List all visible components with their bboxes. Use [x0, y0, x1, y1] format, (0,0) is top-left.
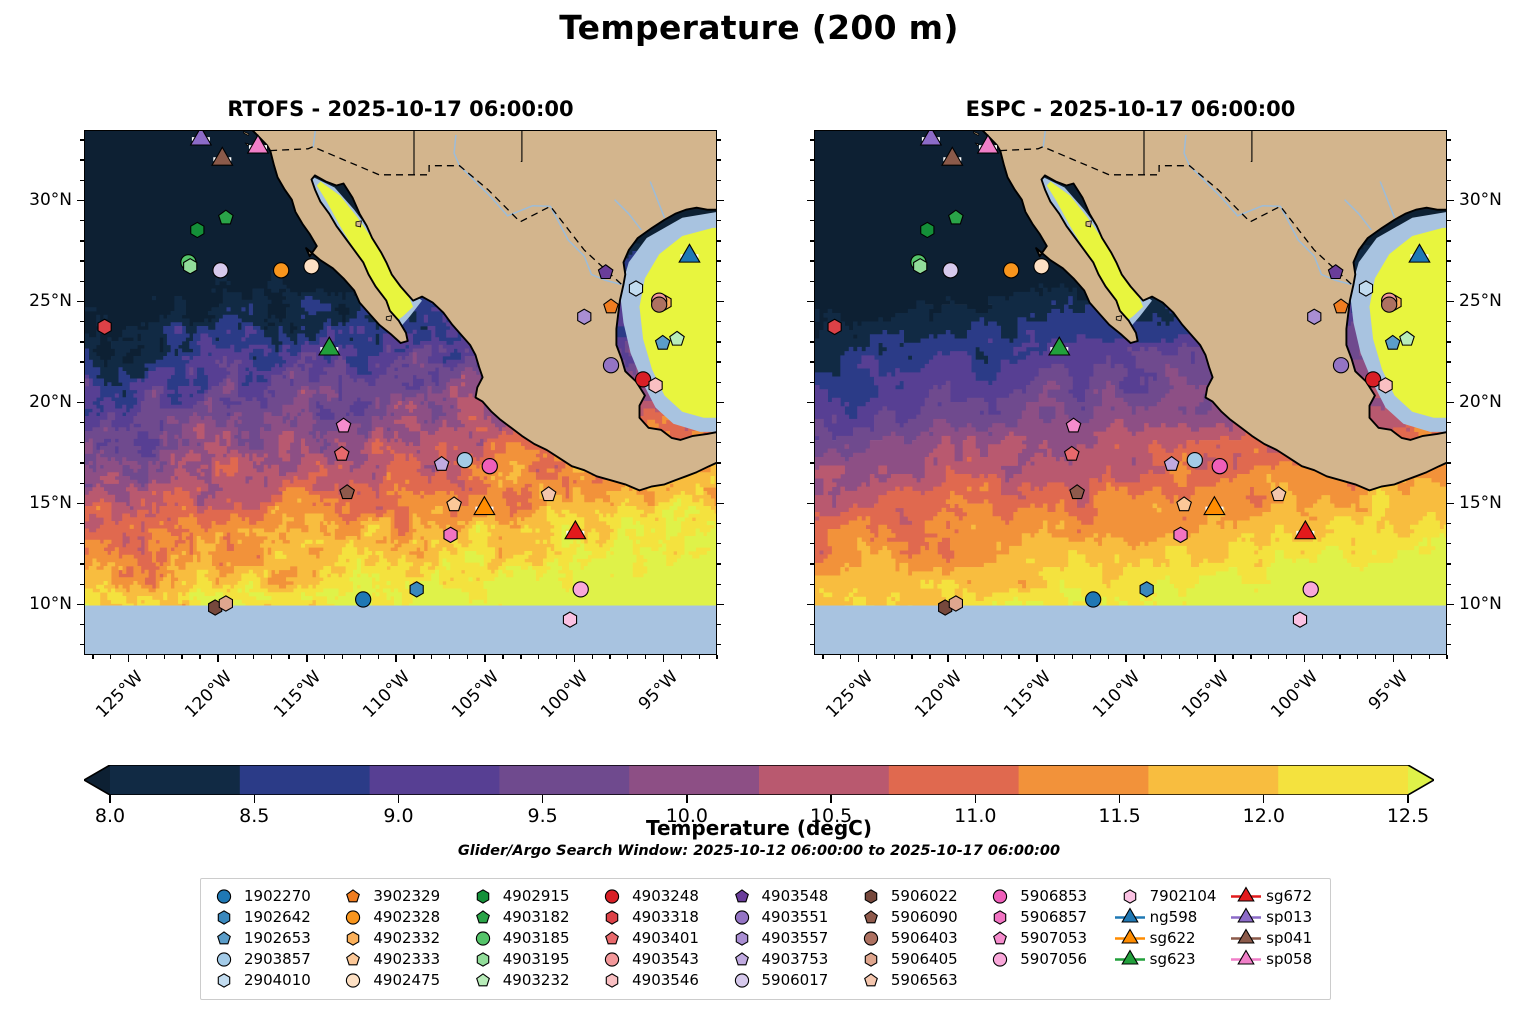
legend-item-sg623[interactable]: sg623: [1113, 949, 1230, 970]
colorbar-band: [629, 765, 759, 795]
lon-tick-major: [1125, 655, 1127, 662]
platform-marker-1902270: [1086, 592, 1101, 607]
lat-tick-minor: [1447, 220, 1451, 221]
legend-marker-4903318: [595, 907, 629, 928]
legend-marker-4903551: [725, 907, 759, 928]
legend-item-5906857[interactable]: 5906857: [983, 907, 1112, 928]
lat-tick-minor: [810, 281, 814, 282]
legend-label: 5906017: [759, 970, 829, 991]
legend-item-4903248[interactable]: 4903248: [595, 886, 724, 907]
lon-tick-label: 120°W: [906, 667, 965, 726]
lat-tick-minor: [717, 563, 721, 564]
lon-tick-label: 120°W: [176, 667, 235, 726]
lon-tick-minor: [716, 655, 717, 659]
lon-tick-minor: [876, 655, 877, 659]
legend-item-4902333[interactable]: 4902333: [336, 949, 465, 970]
lat-tick-minor: [1447, 624, 1451, 625]
colorbar-band: [370, 765, 500, 795]
legend-item-4903318[interactable]: 4903318: [595, 907, 724, 928]
legend-marker-2904010: [207, 970, 241, 991]
platform-marker-1902642: [410, 582, 423, 597]
lon-tick-minor: [413, 655, 414, 659]
legend-label: sp058: [1263, 949, 1312, 970]
lon-tick-label: 100°W: [533, 667, 592, 726]
lat-tick-minor: [717, 321, 721, 322]
lon-tick-minor: [1232, 655, 1233, 659]
legend-column-8: sg672sp013sp041sp058: [1229, 886, 1324, 991]
legend-label: ng598: [1147, 907, 1198, 928]
legend-item-5906403[interactable]: 5906403: [854, 928, 983, 949]
platform-marker-1902642: [1140, 582, 1153, 597]
map-espc[interactable]: [814, 130, 1447, 655]
platform-marker-2904010: [629, 281, 642, 296]
lat-tick-label: 15°N: [1459, 493, 1518, 513]
platform-marker-4903546: [649, 378, 662, 393]
lat-tick-label: 10°N: [8, 594, 72, 614]
legend-marker-4903548: [725, 886, 759, 907]
legend-marker-4903248: [595, 886, 629, 907]
legend-item-ng598[interactable]: ng598: [1113, 907, 1230, 928]
lon-tick-label: 105°W: [444, 667, 503, 726]
lat-tick-major: [807, 301, 814, 303]
lat-tick-major: [77, 503, 84, 505]
lon-tick-label: 110°W: [1085, 667, 1144, 726]
lat-tick-major: [807, 604, 814, 606]
lon-tick-major: [574, 655, 576, 662]
lon-tick-minor: [645, 655, 646, 659]
map-rtofs[interactable]: [84, 130, 717, 655]
lon-tick-label: 115°W: [996, 667, 1055, 726]
legend-item-5907053[interactable]: 5907053: [983, 928, 1112, 949]
lon-tick-minor: [288, 655, 289, 659]
lat-tick-minor: [80, 159, 84, 160]
colorbar: 8.08.59.09.510.010.511.011.512.012.5: [84, 765, 1434, 795]
platform-marker-4903195: [184, 259, 197, 274]
legend-item-4903548[interactable]: 4903548: [725, 886, 854, 907]
platform-marker-5906853: [482, 459, 497, 474]
lon-tick-major: [484, 655, 486, 662]
lon-tick-major: [947, 655, 949, 662]
lat-tick-minor: [717, 260, 721, 261]
lat-tick-minor: [810, 139, 814, 140]
lat-tick-minor: [1447, 180, 1451, 181]
legend-marker-4902333: [336, 949, 370, 970]
legend-item-5906563[interactable]: 5906563: [854, 970, 983, 991]
lon-tick-minor: [840, 655, 841, 659]
colorbar-tick: [1119, 795, 1120, 803]
legend-spacer: [983, 970, 1112, 991]
legend-label: 4903753: [759, 949, 829, 970]
lon-tick-minor: [1322, 655, 1323, 659]
legend-item-sp013[interactable]: sp013: [1229, 907, 1324, 928]
legend-item-4903753[interactable]: 4903753: [725, 949, 854, 970]
lon-tick-minor: [911, 655, 912, 659]
lat-tick-minor: [1447, 139, 1451, 140]
legend-marker-5906563: [854, 970, 888, 991]
legend-marker-3902329: [336, 886, 370, 907]
legend-label: sg672: [1263, 886, 1312, 907]
platform-marker-4903318: [98, 319, 111, 334]
lat-tick-label: 25°N: [8, 291, 72, 311]
colorbar-band: [1148, 765, 1278, 795]
lat-tick-minor: [717, 624, 721, 625]
lat-tick-minor: [80, 483, 84, 484]
lat-tick-minor: [80, 523, 84, 524]
lon-tick-minor: [1143, 655, 1144, 659]
lat-tick-minor: [1447, 584, 1451, 585]
lon-tick-minor: [1268, 655, 1269, 659]
platform-marker-4903248: [1366, 372, 1381, 387]
lat-tick-major: [1447, 503, 1454, 505]
lat-tick-minor: [80, 281, 84, 282]
lon-tick-minor: [1357, 655, 1358, 659]
no-data-region: [85, 606, 717, 655]
legend-column-0: 19022701902642190265329038572904010: [207, 886, 336, 991]
lon-tick-minor: [467, 655, 468, 659]
lat-tick-minor: [1447, 563, 1451, 564]
legend-label: 4902915: [500, 886, 570, 907]
lat-tick-minor: [717, 644, 721, 645]
legend-item-1902653[interactable]: 1902653: [207, 928, 336, 949]
legend-item-5906022[interactable]: 5906022: [854, 886, 983, 907]
lon-tick-minor: [360, 655, 361, 659]
lat-tick-minor: [810, 382, 814, 383]
legend-label: 4903318: [629, 907, 699, 928]
lat-tick-major: [717, 604, 724, 606]
lat-tick-minor: [717, 159, 721, 160]
island: [1116, 316, 1121, 321]
colorbar-band: [240, 765, 370, 795]
platform-marker-5906857: [1174, 527, 1187, 542]
legend-item-sp058[interactable]: sp058: [1229, 949, 1324, 970]
legend-item-4903543[interactable]: 4903543: [595, 949, 724, 970]
lat-tick-minor: [717, 483, 721, 484]
lat-tick-minor: [717, 361, 721, 362]
legend-marker-1902642: [207, 907, 241, 928]
legend-marker-4902475: [336, 970, 370, 991]
legend-label: 4903551: [759, 907, 829, 928]
lat-tick-minor: [1447, 281, 1451, 282]
legend-label: 4903248: [629, 886, 699, 907]
lon-tick-minor: [1072, 655, 1073, 659]
platform-marker-4903248: [636, 372, 651, 387]
lon-tick-minor: [983, 655, 984, 659]
lon-tick-minor: [181, 655, 182, 659]
legend-marker-5906022: [854, 886, 888, 907]
legend-item-4902475[interactable]: 4902475: [336, 970, 465, 991]
legend-column-4: 49035484903551490355749037535906017: [725, 886, 854, 991]
lat-tick-minor: [80, 442, 84, 443]
lon-tick-minor: [1429, 655, 1430, 659]
lat-tick-minor: [1447, 462, 1451, 463]
lat-tick-minor: [810, 563, 814, 564]
map-canvas-rtofs: [85, 131, 717, 655]
lat-tick-label: 30°N: [8, 190, 72, 210]
legend-label: 5906853: [1017, 886, 1087, 907]
lon-tick-label: 115°W: [266, 667, 325, 726]
lat-tick-minor: [810, 644, 814, 645]
lat-tick-major: [77, 402, 84, 404]
lat-tick-minor: [810, 240, 814, 241]
legend-item-5907056[interactable]: 5907056: [983, 949, 1112, 970]
legend-label: 3902329: [370, 886, 440, 907]
lat-tick-major: [807, 402, 814, 404]
lon-tick-major: [217, 655, 219, 662]
platform-marker-5906403: [652, 297, 667, 312]
platform-marker-5906017: [213, 263, 228, 278]
legend-label: 4902332: [370, 928, 440, 949]
lat-tick-minor: [1447, 260, 1451, 261]
legend-item-sp041[interactable]: sp041: [1229, 928, 1324, 949]
legend-item-4903232[interactable]: 4903232: [466, 970, 595, 991]
lat-tick-minor: [80, 563, 84, 564]
lat-tick-minor: [717, 180, 721, 181]
lon-tick-minor: [1197, 655, 1198, 659]
legend-marker-sg623: [1113, 949, 1147, 970]
legend-label: 5907056: [1017, 949, 1087, 970]
lat-tick-label: 20°N: [8, 392, 72, 412]
colorbar-band: [889, 765, 1019, 795]
legend-item-2903857[interactable]: 2903857: [207, 949, 336, 970]
lon-tick-minor: [627, 655, 628, 659]
platform-marker-4903318: [828, 319, 841, 334]
lat-tick-minor: [717, 382, 721, 383]
lat-tick-minor: [1447, 644, 1451, 645]
legend-column-5: 59060225906090590640359064055906563: [854, 886, 983, 991]
lat-tick-minor: [810, 624, 814, 625]
colorbar-tick: [1407, 795, 1408, 803]
legend-marker-sg622: [1113, 928, 1147, 949]
legend-column-7: 7902104ng598sg622sg623: [1113, 886, 1230, 991]
lon-tick-minor: [1446, 655, 1447, 659]
lat-tick-minor: [810, 361, 814, 362]
lat-tick-label: 15°N: [8, 493, 72, 513]
legend-item-5906405[interactable]: 5906405: [854, 949, 983, 970]
legend-item-4903551[interactable]: 4903551: [725, 907, 854, 928]
legend-item-1902642[interactable]: 1902642: [207, 907, 336, 928]
lon-tick-minor: [556, 655, 557, 659]
legend-marker-5907053: [983, 928, 1017, 949]
platform-marker-4902915: [921, 222, 934, 237]
platform-marker-4902475: [304, 259, 319, 274]
lat-tick-minor: [717, 462, 721, 463]
platform-marker-5906403: [1382, 297, 1397, 312]
lon-tick-minor: [1161, 655, 1162, 659]
platform-marker-5906405: [949, 596, 962, 611]
legend-marker-1902270: [207, 886, 241, 907]
legend-column-6: 5906853590685759070535907056: [983, 886, 1112, 991]
legend-item-4903401[interactable]: 4903401: [595, 928, 724, 949]
legend-marker-4903182: [466, 907, 500, 928]
lat-tick-major: [717, 402, 724, 404]
island: [356, 221, 361, 227]
legend-item-4902328[interactable]: 4902328: [336, 907, 465, 928]
legend-item-4903557[interactable]: 4903557: [725, 928, 854, 949]
panel-espc: ESPC - 2025-10-17 06:00:00 125°W120°W115…: [814, 130, 1447, 655]
legend-item-4903185[interactable]: 4903185: [466, 928, 595, 949]
lat-tick-minor: [1447, 523, 1451, 524]
platform-marker-4902328: [1004, 263, 1019, 278]
island: [386, 316, 391, 321]
lon-tick-minor: [609, 655, 610, 659]
lon-tick-minor: [894, 655, 895, 659]
colorbar-tick: [398, 795, 399, 803]
legend-label: 4903548: [759, 886, 829, 907]
lat-tick-minor: [80, 240, 84, 241]
legend-label: 2904010: [241, 970, 311, 991]
lat-tick-label: 20°N: [1459, 392, 1518, 412]
lat-tick-minor: [1447, 442, 1451, 443]
colorbar-band: [1019, 765, 1149, 795]
legend-marker-4902332: [336, 928, 370, 949]
legend-label: sp013: [1263, 907, 1312, 928]
platform-marker-5906853: [1212, 459, 1227, 474]
legend-label: 5906403: [888, 928, 958, 949]
legend-marker-5907056: [983, 949, 1017, 970]
legend-marker-1902653: [207, 928, 241, 949]
legend-item-4903546[interactable]: 4903546: [595, 970, 724, 991]
lat-tick-minor: [810, 180, 814, 181]
legend-label: 4903543: [629, 949, 699, 970]
lat-tick-minor: [80, 382, 84, 383]
lon-tick-label: 95°W: [622, 667, 681, 726]
lon-tick-minor: [1054, 655, 1055, 659]
legend-item-sg622[interactable]: sg622: [1113, 928, 1230, 949]
lon-tick-major: [663, 655, 665, 662]
legend-item-4902915[interactable]: 4902915: [466, 886, 595, 907]
lat-tick-minor: [80, 139, 84, 140]
lat-tick-minor: [80, 644, 84, 645]
lon-tick-minor: [1090, 655, 1091, 659]
platform-marker-7902104: [1293, 612, 1306, 627]
lat-tick-minor: [1447, 382, 1451, 383]
platform-marker-5906405: [219, 596, 232, 611]
lat-tick-minor: [810, 462, 814, 463]
lat-tick-major: [807, 503, 814, 505]
lon-tick-minor: [235, 655, 236, 659]
legend-label: 4903557: [759, 928, 829, 949]
platform-marker-4903551: [603, 358, 618, 373]
colorbar-extend-max: [1408, 765, 1434, 795]
legend-marker-4903546: [595, 970, 629, 991]
legend-spacer: [1113, 970, 1230, 991]
legend-marker-4903543: [595, 949, 629, 970]
lat-tick-major: [77, 200, 84, 202]
legend-item-5906090[interactable]: 5906090: [854, 907, 983, 928]
lon-tick-label: 110°W: [355, 667, 414, 726]
lat-tick-minor: [810, 422, 814, 423]
legend-label: 1902642: [241, 907, 311, 928]
colorbar-tick: [1263, 795, 1264, 803]
lon-tick-minor: [1375, 655, 1376, 659]
legend-label: 5906563: [888, 970, 958, 991]
legend-label: 4902475: [370, 970, 440, 991]
search-window-caption: Glider/Argo Search Window: 2025-10-12 06…: [0, 843, 1518, 859]
legend-item-4902332[interactable]: 4902332: [336, 928, 465, 949]
colorbar-band: [499, 765, 629, 795]
legend-marker-5906853: [983, 886, 1017, 907]
legend-column-1: 39023294902328490233249023334902475: [336, 886, 465, 991]
lon-tick-minor: [822, 655, 823, 659]
platform-marker-4903195: [914, 259, 927, 274]
lon-tick-major: [128, 655, 130, 662]
legend-marker-sp058: [1229, 949, 1263, 970]
colorbar-tick: [830, 795, 831, 803]
lat-tick-minor: [80, 220, 84, 221]
lon-tick-major: [1393, 655, 1395, 662]
legend-item-1902270[interactable]: 1902270: [207, 886, 336, 907]
lon-tick-minor: [92, 655, 93, 659]
lat-tick-minor: [1447, 341, 1451, 342]
legend-item-sg672[interactable]: sg672: [1229, 886, 1324, 907]
lat-tick-minor: [80, 422, 84, 423]
lon-tick-label: 125°W: [87, 667, 146, 726]
lon-tick-major: [395, 655, 397, 662]
lat-tick-major: [77, 604, 84, 606]
legend-item-3902329[interactable]: 3902329: [336, 886, 465, 907]
legend-marker-2903857: [207, 949, 241, 970]
lon-tick-minor: [1250, 655, 1251, 659]
legend-item-4903195[interactable]: 4903195: [466, 949, 595, 970]
lon-tick-minor: [324, 655, 325, 659]
lon-tick-major: [306, 655, 308, 662]
lat-tick-major: [1447, 402, 1454, 404]
legend-label: 4903185: [500, 928, 570, 949]
legend-marker-5906857: [983, 907, 1017, 928]
legend-label: 5906090: [888, 907, 958, 928]
platform-marker-4903546: [1379, 378, 1392, 393]
lat-tick-minor: [1447, 361, 1451, 362]
legend-item-4903182[interactable]: 4903182: [466, 907, 595, 928]
platform-marker-4902915: [191, 222, 204, 237]
lon-tick-minor: [699, 655, 700, 659]
lat-tick-minor: [810, 220, 814, 221]
lat-tick-minor: [1447, 543, 1451, 544]
lon-tick-minor: [146, 655, 147, 659]
platform-marker-2904010: [1359, 281, 1372, 296]
lat-tick-major: [807, 200, 814, 202]
legend-item-7902104[interactable]: 7902104: [1113, 886, 1230, 907]
legend-marker-4903232: [466, 970, 500, 991]
lon-tick-minor: [378, 655, 379, 659]
platform-marker-5906857: [444, 527, 457, 542]
legend-label: 2903857: [241, 949, 311, 970]
panel-rtofs: RTOFS - 2025-10-17 06:00:00 125°W120°W11…: [84, 130, 717, 655]
legend-item-2904010[interactable]: 2904010: [207, 970, 336, 991]
lat-tick-minor: [1447, 483, 1451, 484]
lon-tick-label: 105°W: [1174, 667, 1233, 726]
lat-tick-minor: [1447, 159, 1451, 160]
platform-marker-5907056: [1303, 582, 1318, 597]
map-canvas-espc: [815, 131, 1447, 655]
platform-marker-1902270: [356, 592, 371, 607]
legend-item-5906017[interactable]: 5906017: [725, 970, 854, 991]
legend-label: sg622: [1147, 928, 1196, 949]
lat-tick-label: 25°N: [1459, 291, 1518, 311]
lat-tick-minor: [80, 624, 84, 625]
no-data-region: [815, 606, 1447, 655]
legend-label: sp041: [1263, 928, 1312, 949]
lat-tick-minor: [810, 543, 814, 544]
lon-tick-minor: [502, 655, 503, 659]
lat-tick-label: 30°N: [1459, 190, 1518, 210]
colorbar-tick: [254, 795, 255, 803]
platform-marker-2903857: [1187, 453, 1202, 468]
legend-item-5906853[interactable]: 5906853: [983, 886, 1112, 907]
lat-tick-minor: [717, 220, 721, 221]
platform-marker-4903557: [578, 309, 591, 324]
lat-tick-minor: [810, 442, 814, 443]
